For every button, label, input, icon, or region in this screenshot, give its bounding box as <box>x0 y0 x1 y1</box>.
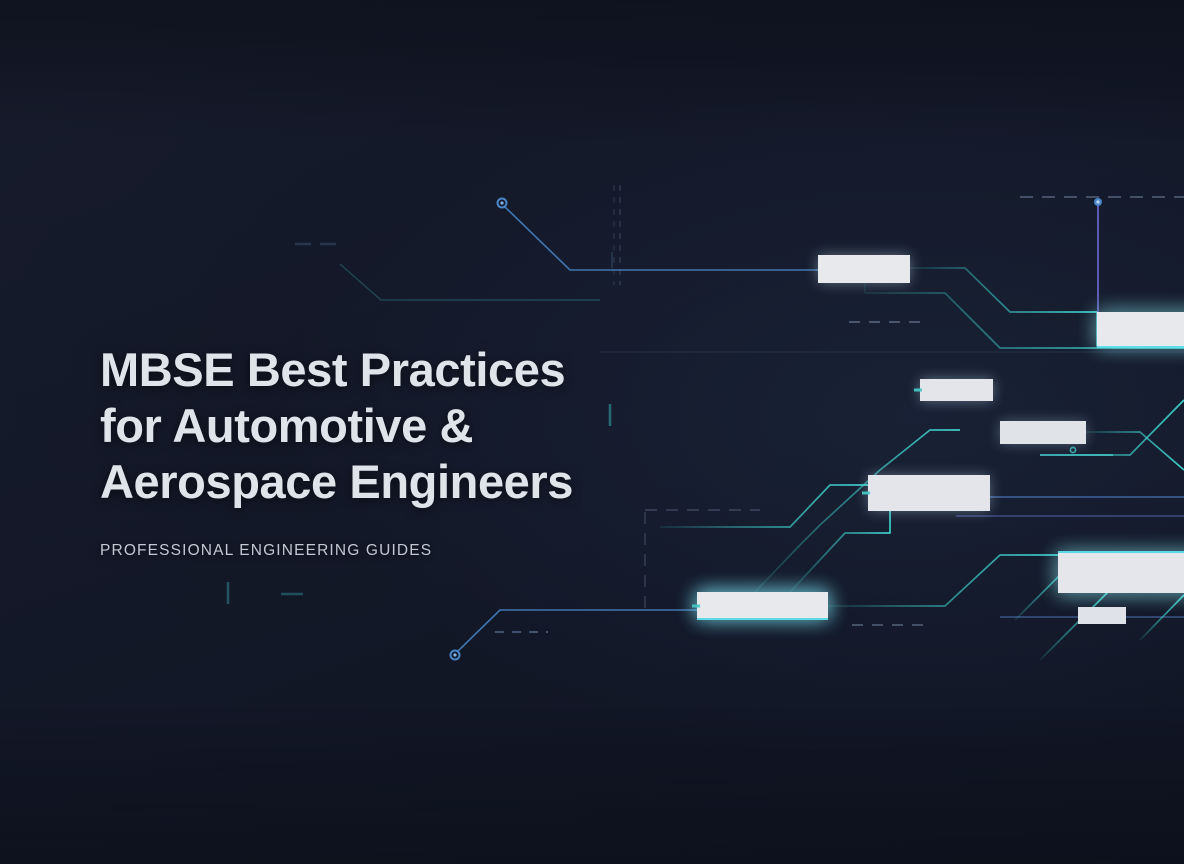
diagram-block <box>920 379 993 401</box>
hero-banner: MBSE Best Practices for Automotive & Aer… <box>0 0 1184 864</box>
diagram-block <box>1000 421 1086 444</box>
diagram-block <box>1078 607 1126 624</box>
page-subtitle: PROFESSIONAL ENGINEERING GUIDES <box>100 542 620 560</box>
diagram-block <box>697 592 828 618</box>
hero-text-block: MBSE Best Practices for Automotive & Aer… <box>100 342 620 560</box>
diagram-block <box>868 475 990 511</box>
page-title: MBSE Best Practices for Automotive & Aer… <box>100 342 620 510</box>
diagram-block <box>1058 553 1184 593</box>
diagram-block <box>818 255 910 283</box>
diagram-block <box>1097 312 1184 346</box>
